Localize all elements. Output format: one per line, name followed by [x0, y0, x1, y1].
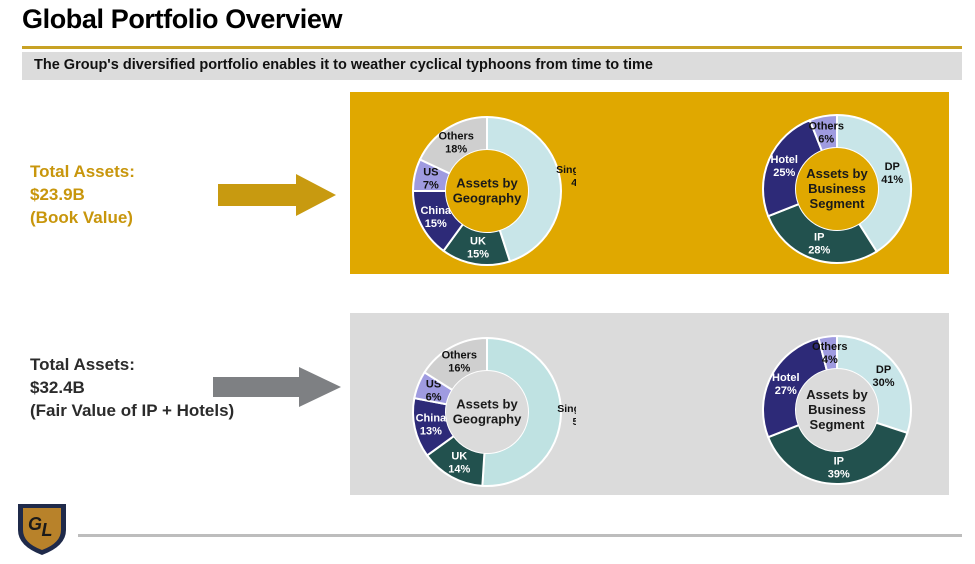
donut-center-title-line: Assets by: [806, 387, 868, 402]
page-title: Global Portfolio Overview: [22, 4, 342, 35]
donut-center-title-line: Business: [808, 181, 866, 196]
svg-text:Others: Others: [442, 350, 477, 362]
svg-text:Singapore: Singapore: [557, 403, 576, 415]
svg-text:Others: Others: [808, 120, 843, 132]
svg-text:15%: 15%: [425, 218, 447, 230]
pie-label-us: US7%: [423, 166, 439, 191]
subtitle-text: The Group's diversified portfolio enable…: [34, 57, 653, 73]
svg-text:UK: UK: [451, 450, 467, 462]
donut-center-title-line: Business: [808, 402, 866, 417]
donut-center-title-line: Assets by: [456, 176, 518, 191]
svg-text:51%: 51%: [572, 416, 576, 428]
svg-text:DP: DP: [876, 364, 891, 376]
svg-text:L: L: [42, 520, 53, 540]
gl-shield-logo: G L: [14, 500, 70, 558]
svg-text:39%: 39%: [828, 468, 850, 480]
svg-text:27%: 27%: [775, 385, 797, 397]
svg-text:China: China: [416, 412, 447, 424]
svg-text:Others: Others: [812, 341, 847, 353]
arrow-fair-value-icon: [213, 364, 333, 410]
svg-text:18%: 18%: [445, 143, 467, 155]
donut-center-title-line: Segment: [810, 417, 866, 432]
pie-label-hotel: Hotel27%: [772, 372, 800, 397]
svg-text:14%: 14%: [448, 463, 470, 475]
svg-text:Singapore: Singapore: [556, 164, 576, 176]
arrow-book-value-icon: [218, 172, 338, 218]
svg-text:DP: DP: [885, 161, 900, 173]
donut-center-title-line: Geography: [453, 412, 522, 427]
pie-label-hotel: Hotel25%: [770, 154, 798, 179]
chart-assets-by-business-segment-book-value: DP41%IP28%Hotel25%Others6%Assets byBusin…: [748, 103, 926, 275]
svg-text:IP: IP: [814, 232, 824, 244]
svg-text:41%: 41%: [881, 174, 903, 186]
svg-text:16%: 16%: [448, 363, 470, 375]
title-underline-rule: [22, 46, 962, 49]
svg-text:G: G: [28, 514, 42, 534]
pie-label-uk: UK15%: [467, 236, 489, 261]
svg-text:China: China: [420, 205, 451, 217]
svg-text:7%: 7%: [423, 179, 439, 191]
svg-text:Hotel: Hotel: [772, 372, 800, 384]
svg-text:Hotel: Hotel: [770, 154, 798, 166]
svg-text:45%: 45%: [571, 177, 576, 189]
donut-center-title-line: Assets by: [456, 397, 518, 412]
chart-assets-by-business-segment-fair-value: DP30%IP39%Hotel27%Others4%Assets byBusin…: [748, 324, 926, 496]
svg-text:UK: UK: [470, 236, 486, 248]
svg-text:4%: 4%: [822, 354, 838, 366]
chart-assets-by-geography-fair-value: Singapore51%UK14%China13%US6%Others16%As…: [398, 326, 576, 498]
svg-text:30%: 30%: [873, 377, 895, 389]
svg-text:6%: 6%: [426, 392, 442, 404]
svg-text:28%: 28%: [808, 245, 830, 257]
svg-text:13%: 13%: [420, 425, 442, 437]
svg-text:IP: IP: [834, 455, 844, 467]
slide-canvas: Global Portfolio Overview The Group's di…: [0, 0, 975, 564]
donut-center-title-line: Segment: [810, 196, 866, 211]
svg-text:25%: 25%: [773, 167, 795, 179]
chart-assets-by-geography-book-value: Singapore45%UK15%China15%US7%Others18%As…: [398, 105, 576, 277]
svg-text:Others: Others: [438, 130, 473, 142]
donut-center-title-line: Geography: [453, 191, 522, 206]
svg-text:15%: 15%: [467, 249, 489, 261]
svg-text:6%: 6%: [818, 133, 834, 145]
pie-label-uk: UK14%: [448, 450, 470, 475]
donut-center-title-line: Assets by: [806, 166, 868, 181]
footer-divider-rule: [78, 534, 962, 537]
